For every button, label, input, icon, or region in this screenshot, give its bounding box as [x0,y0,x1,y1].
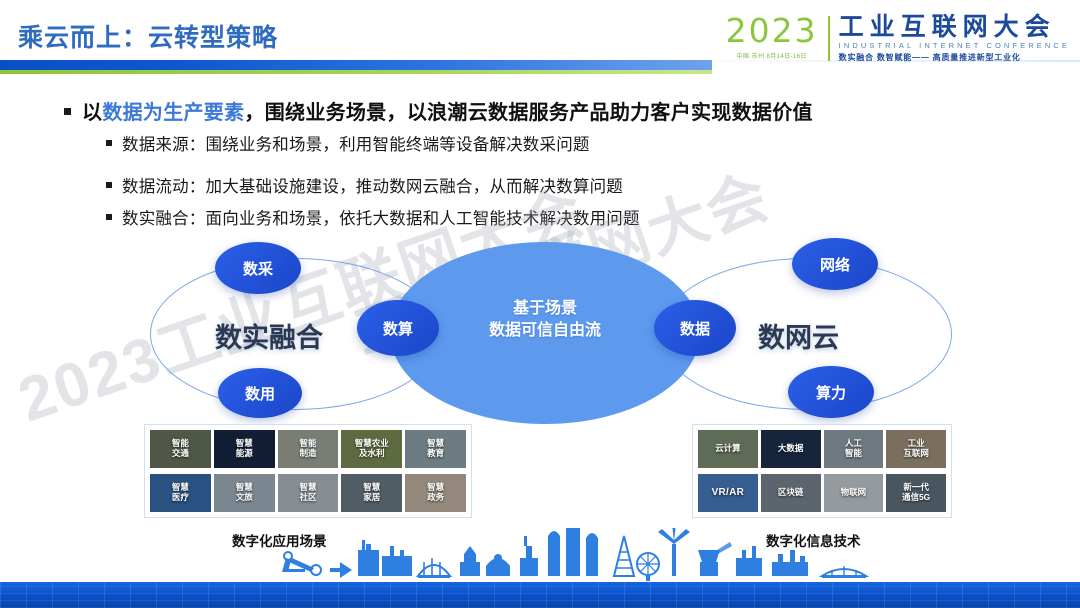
main-bullet: 以数据为生产要素，围绕业务场景，以浪潮云数据服务产品助力客户实现数据价值 [64,96,813,125]
bullet-square-icon [106,140,112,146]
tile-label: 智慧 社区 [299,483,316,503]
tile-label: 物联网 [841,488,867,498]
tile-label: 区块链 [778,488,804,498]
sub-bullet-2: 数据流动：加大基础设施建设，推动数网云融合，从而解决数算问题 [106,173,623,197]
tile-label: 智慧 能源 [236,439,253,459]
tile-row: 智慧 医疗智慧 文旅智慧 社区智慧 家居智慧 政务 [150,474,466,512]
tile-tech-0-2[interactable]: 人工 智能 [824,430,884,468]
node-wangluo-label: 网络 [820,254,850,275]
header-accent-line-green [0,70,712,74]
tile-scenario-0-2[interactable]: 智能 制造 [278,430,339,468]
node-shusuan-label: 数算 [383,318,413,339]
conference-logo: 2023 中国·苏州 8月14日-16日 工业互联网大会 INDUSTRIAL … [726,14,1070,63]
logo-year-block: 2023 中国·苏州 8月14日-16日 [726,14,828,60]
main-bullet-prefix: 以 [82,102,102,124]
tile-label: 智慧 家居 [363,483,380,503]
tile-label: 新一代 通信5G [902,483,930,503]
tile-tech-0-1[interactable]: 大数据 [761,430,821,468]
tile-label: 智慧 文旅 [236,483,253,503]
tile-label: 大数据 [778,444,804,454]
header-accent-bar [0,60,712,70]
logo-year: 2023 [726,14,818,47]
sub-bullet-3-text: 数实融合：面向业务和场景，依托大数据和人工智能技术解决数用问题 [122,205,640,229]
tile-scenario-1-0[interactable]: 智慧 医疗 [150,474,211,512]
footer-decoration [0,528,1080,608]
logo-year-subtitle: 中国·苏州 8月14日-16日 [726,51,818,60]
tile-tech-1-0[interactable]: VR/AR [698,474,758,512]
group-label-right: 数网云 [758,316,839,355]
group-label-left: 数实融合 [215,316,323,355]
main-bullet-suffix: ，围绕业务场景，以浪潮云数据服务产品助力客户实现数据价值 [244,102,812,124]
city-skyline-icon [0,528,1080,584]
tile-label: 云计算 [715,444,741,454]
bullet-square-icon [106,214,112,220]
footer-ground-band [0,582,1080,608]
sub-bullet-1: 数据来源：围绕业务和场景，利用智能终端等设备解决数采问题 [106,131,590,155]
tile-tech-0-0[interactable]: 云计算 [698,430,758,468]
tile-row: VR/AR区块链物联网新一代 通信5G [698,474,946,512]
tile-label: VR/AR [712,487,745,499]
tile-label: 智能 交通 [172,439,189,459]
logo-divider [828,16,830,61]
tile-label: 人工 智能 [845,439,862,459]
tile-scenario-0-0[interactable]: 智能 交通 [150,430,211,468]
tile-tech-0-3[interactable]: 工业 互联网 [886,430,946,468]
sub-bullet-1-text: 数据来源：围绕业务和场景，利用智能终端等设备解决数采问题 [122,131,590,155]
tile-scenario-0-1[interactable]: 智慧 能源 [214,430,275,468]
tile-label: 智慧 教育 [427,439,444,459]
center-blob-line-1: 基于场景 [390,298,700,320]
venn-diagram: 数实融合 数网云 基于场景 数据可信自由流 数采 数用 数算 数据 网络 算力 [140,240,950,425]
tile-label: 智慧农业 及水利 [355,439,389,459]
page-title: 乘云而上：云转型策略 [18,18,278,54]
node-shucai-label: 数采 [243,258,273,279]
panel-information-technologies: 云计算大数据人工 智能工业 互联网VR/AR区块链物联网新一代 通信5G [692,424,952,518]
tile-tech-1-2[interactable]: 物联网 [824,474,884,512]
slide: 乘云而上：云转型策略 2023 中国·苏州 8月14日-16日 工业互联网大会 … [0,0,1080,608]
tile-scenario-0-4[interactable]: 智慧 教育 [405,430,466,468]
logo-tagline: 数实融合 数智赋能—— 高质量推进新型工业化 [839,52,1070,63]
node-shuyong[interactable]: 数用 [218,368,302,418]
node-shucai[interactable]: 数采 [215,242,301,294]
tile-label: 智慧 医疗 [172,483,189,503]
tile-scenario-1-2[interactable]: 智慧 社区 [278,474,339,512]
tile-tech-1-1[interactable]: 区块链 [761,474,821,512]
node-shuyong-label: 数用 [245,383,275,404]
tile-row: 智能 交通智慧 能源智能 制造智慧农业 及水利智慧 教育 [150,430,466,468]
panel-application-scenarios: 智能 交通智慧 能源智能 制造智慧农业 及水利智慧 教育智慧 医疗智慧 文旅智慧… [144,424,472,518]
sub-bullet-2-text: 数据流动：加大基础设施建设，推动数网云融合，从而解决数算问题 [122,173,623,197]
logo-name-block: 工业互联网大会 INDUSTRIAL INTERNET CONFERENCE 数… [839,14,1070,63]
tile-label: 智能 制造 [299,439,316,459]
node-wangluo[interactable]: 网络 [792,238,878,290]
tile-tech-1-3[interactable]: 新一代 通信5G [886,474,946,512]
node-suanli-label: 算力 [816,382,846,403]
node-shuju[interactable]: 数据 [654,300,736,356]
bullet-square-icon [106,182,112,188]
node-suanli[interactable]: 算力 [788,366,874,418]
node-shusuan[interactable]: 数算 [357,300,439,356]
logo-name-en: INDUSTRIAL INTERNET CONFERENCE [839,41,1070,50]
tile-scenario-0-3[interactable]: 智慧农业 及水利 [341,430,402,468]
bullet-square-icon [64,108,71,115]
sub-bullet-3: 数实融合：面向业务和场景，依托大数据和人工智能技术解决数用问题 [106,205,640,229]
tile-row: 云计算大数据人工 智能工业 互联网 [698,430,946,468]
node-shuju-label: 数据 [680,318,710,339]
tile-scenario-1-4[interactable]: 智慧 政务 [405,474,466,512]
tile-label: 工业 互联网 [903,439,929,459]
tile-label: 智慧 政务 [427,483,444,503]
logo-name-cn: 工业互联网大会 [839,14,1070,40]
tile-scenario-1-1[interactable]: 智慧 文旅 [214,474,275,512]
main-bullet-highlight: 数据为生产要素 [102,102,244,124]
main-bullet-text: 以数据为生产要素，围绕业务场景，以浪潮云数据服务产品助力客户实现数据价值 [82,96,813,125]
tile-scenario-1-3[interactable]: 智慧 家居 [341,474,402,512]
